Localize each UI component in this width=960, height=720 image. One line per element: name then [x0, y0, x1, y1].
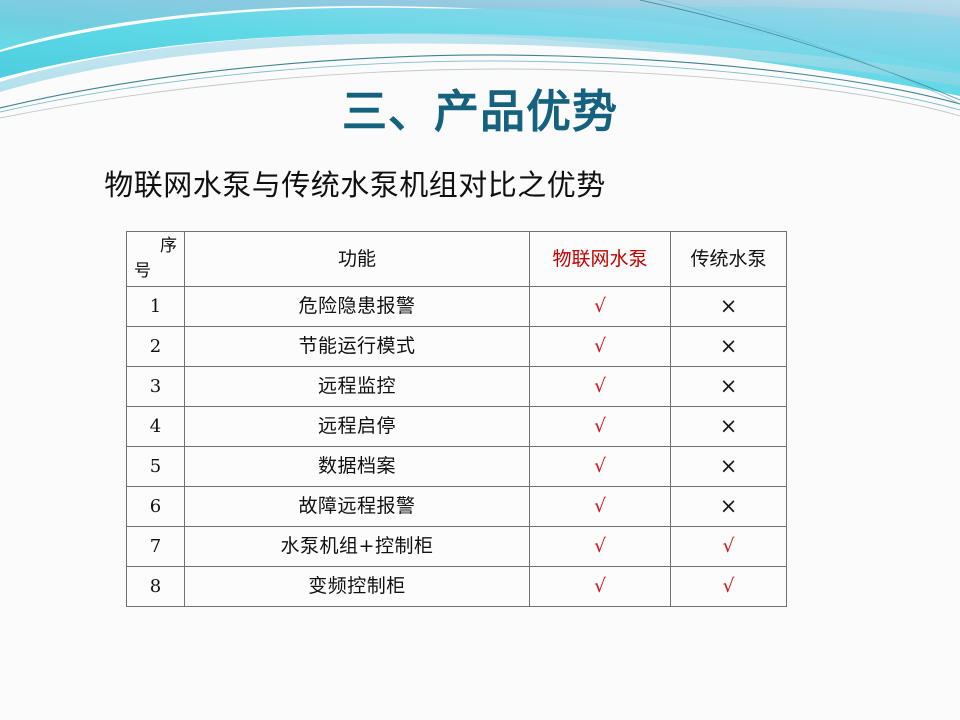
row-trad-mark: ×: [671, 287, 787, 327]
row-trad-mark: √: [671, 567, 787, 607]
row-feature: 变频控制柜: [185, 567, 530, 607]
row-number: 2: [127, 327, 185, 367]
table-row: 6 故障远程报警 √ ×: [127, 487, 787, 527]
column-header-iot-pump: 物联网水泵: [530, 232, 671, 287]
table-row: 3 远程监控 √ ×: [127, 367, 787, 407]
row-feature: 危险隐患报警: [185, 287, 530, 327]
index-header-split: 序 号: [127, 232, 184, 286]
row-feature: 远程监控: [185, 367, 530, 407]
comparison-table-container: 序 号 功能 物联网水泵 传统水泵 1 危险隐患报警 √ × 2 节能: [126, 231, 786, 607]
row-iot-mark: √: [530, 447, 671, 487]
row-feature: 数据档案: [185, 447, 530, 487]
row-iot-mark: √: [530, 567, 671, 607]
index-header-line1: 序: [160, 238, 177, 255]
row-number: 8: [127, 567, 185, 607]
presentation-slide: 三、产品优势 物联网水泵与传统水泵机组对比之优势 序 号 功能 物联网水: [0, 0, 960, 720]
column-header-function: 功能: [185, 232, 530, 287]
wave-line-4: [640, 0, 960, 100]
row-iot-mark: √: [530, 367, 671, 407]
table-row: 1 危险隐患报警 √ ×: [127, 287, 787, 327]
row-feature: 节能运行模式: [185, 327, 530, 367]
row-number: 1: [127, 287, 185, 327]
row-iot-mark: √: [530, 287, 671, 327]
row-number: 4: [127, 407, 185, 447]
title-container: 三、产品优势: [0, 88, 960, 135]
wave-band-upper: [0, 0, 960, 70]
row-feature: 水泵机组+控制柜: [185, 527, 530, 567]
page-subtitle: 物联网水泵与传统水泵机组对比之优势: [104, 162, 606, 204]
row-iot-mark: √: [530, 527, 671, 567]
index-header-line2: 号: [134, 263, 151, 280]
table-row: 2 节能运行模式 √ ×: [127, 327, 787, 367]
row-trad-mark: ×: [671, 407, 787, 447]
column-header-index: 序 号: [127, 232, 185, 287]
row-iot-mark: √: [530, 407, 671, 447]
page-title: 三、产品优势: [342, 88, 618, 135]
row-trad-mark: ×: [671, 367, 787, 407]
column-header-traditional-pump: 传统水泵: [671, 232, 787, 287]
row-trad-mark: ×: [671, 327, 787, 367]
comparison-table: 序 号 功能 物联网水泵 传统水泵 1 危险隐患报警 √ × 2 节能: [126, 231, 787, 607]
subtitle-container: 物联网水泵与传统水泵机组对比之优势: [0, 162, 960, 204]
row-trad-mark: √: [671, 527, 787, 567]
table-row: 7 水泵机组+控制柜 √ √: [127, 527, 787, 567]
row-number: 6: [127, 487, 185, 527]
row-trad-mark: ×: [671, 487, 787, 527]
row-trad-mark: ×: [671, 447, 787, 487]
table-row: 8 变频控制柜 √ √: [127, 567, 787, 607]
row-feature: 远程启停: [185, 407, 530, 447]
table-header-row: 序 号 功能 物联网水泵 传统水泵: [127, 232, 787, 287]
row-number: 3: [127, 367, 185, 407]
wave-band-mid: [0, 7, 960, 96]
row-feature: 故障远程报警: [185, 487, 530, 527]
table-row: 5 数据档案 √ ×: [127, 447, 787, 487]
table-row: 4 远程启停 √ ×: [127, 407, 787, 447]
wave-band-pale: [0, 33, 960, 92]
row-iot-mark: √: [530, 327, 671, 367]
row-number: 5: [127, 447, 185, 487]
row-iot-mark: √: [530, 487, 671, 527]
row-number: 7: [127, 527, 185, 567]
